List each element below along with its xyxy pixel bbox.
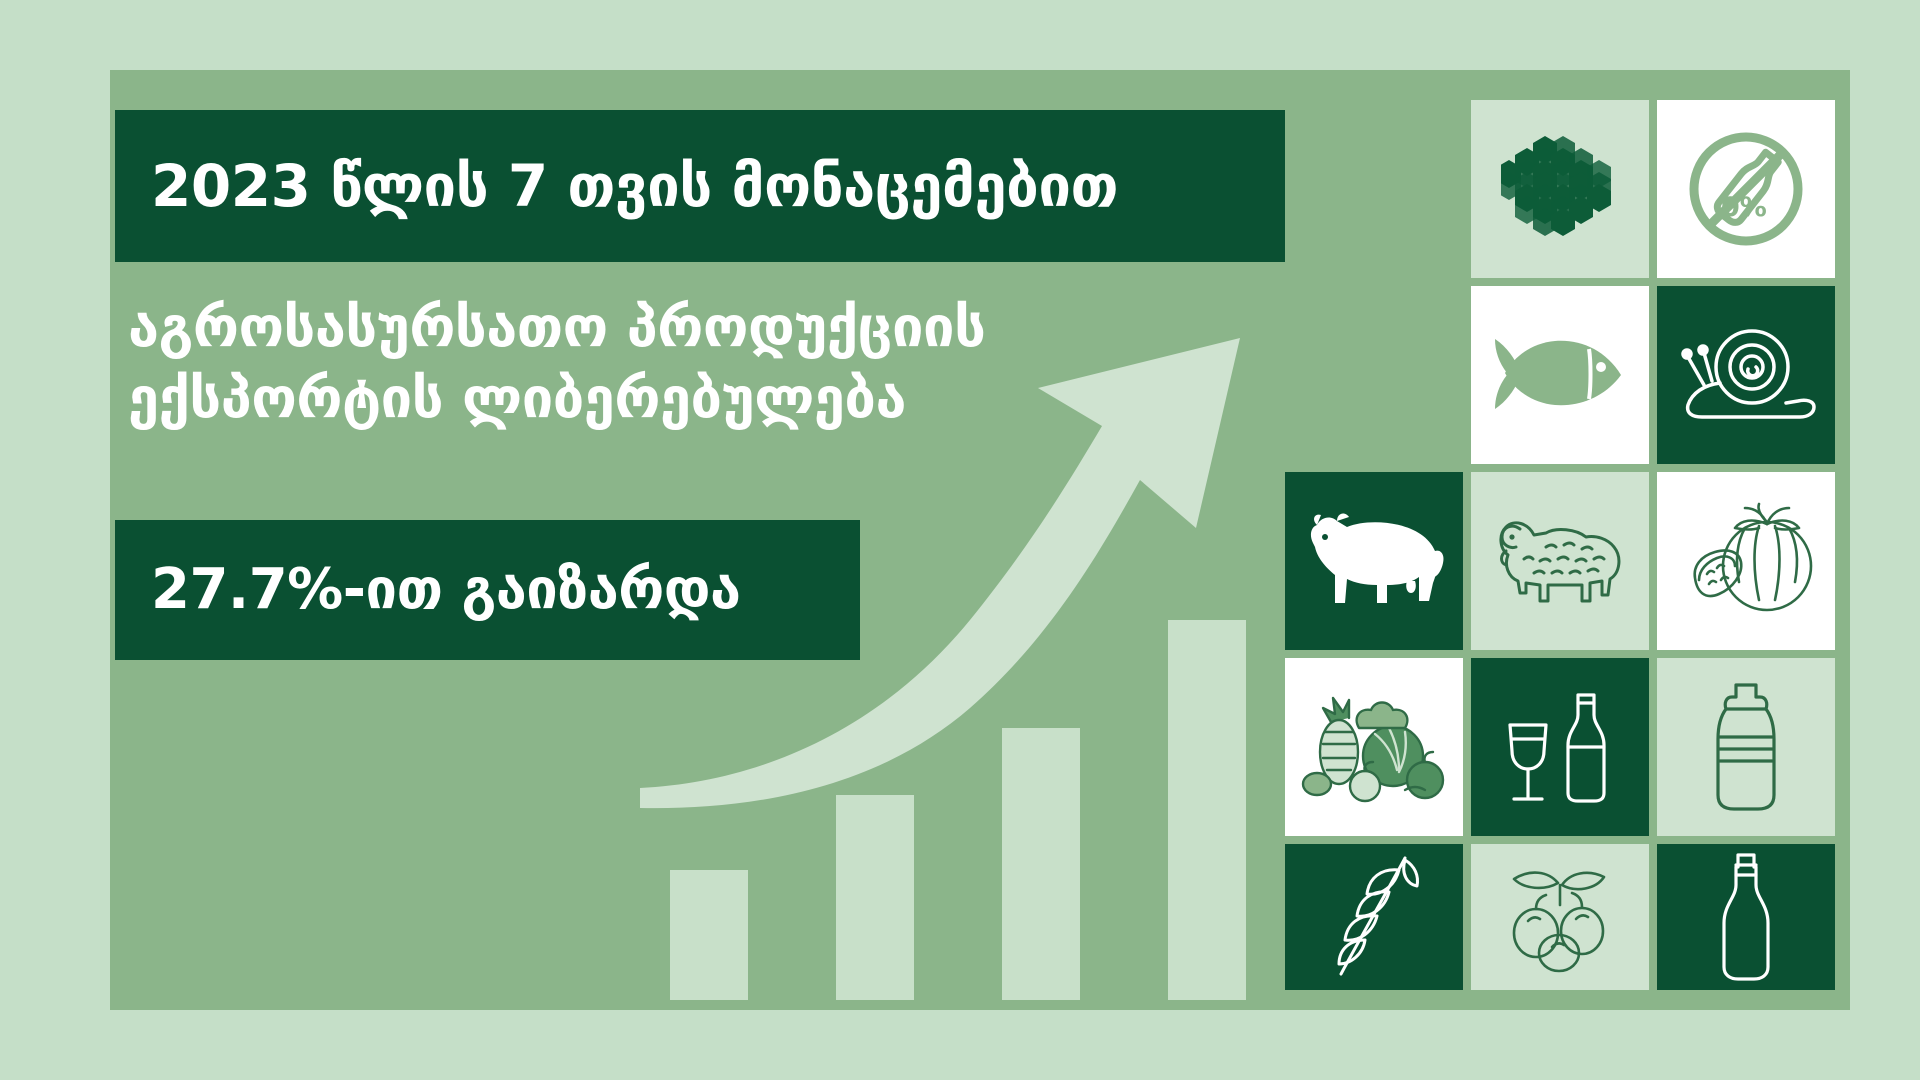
tile-water-bottle	[1657, 658, 1835, 836]
tile-olives	[1471, 844, 1649, 990]
highlight-banner: 27.7%-ით გაიზარდა	[115, 520, 860, 660]
fish-icon	[1493, 329, 1628, 421]
date-banner: 2023 წლის 7 თვის მონაცემებით	[115, 110, 1285, 262]
honeycomb-icon	[1501, 134, 1619, 244]
olives-icon	[1492, 861, 1628, 973]
no-alcohol-badge-label: 0%	[1721, 192, 1767, 223]
tile-sheep	[1471, 472, 1649, 650]
subtitle-block: აგროსასურსათო პროდუქციის ექსპორტის ლიბერ…	[128, 292, 1288, 434]
bar-2	[836, 795, 914, 1000]
tomato-melon-icon	[1675, 500, 1817, 622]
date-banner-text: 2023 წლის 7 თვის მონაცემებით	[115, 157, 1118, 215]
bar-1	[670, 870, 748, 1000]
subtitle-line-1: აგროსასურსათო პროდუქციის	[128, 292, 1288, 363]
tile-fruit-veg	[1285, 658, 1463, 836]
tile-fish	[1471, 286, 1649, 464]
sheep-icon	[1490, 501, 1630, 621]
tile-oil-bottle	[1657, 844, 1835, 990]
tile-cow	[1285, 472, 1463, 650]
infographic-canvas: 2023 წლის 7 თვის მონაცემებით აგროსასურსა…	[0, 0, 1920, 1080]
cow-icon	[1303, 505, 1445, 617]
subtitle-line-2: ექსპორტის ლიბერებულება	[128, 363, 1288, 434]
icon-grid: 0%	[1285, 100, 1845, 990]
no-alcohol-icon: 0%	[1681, 124, 1811, 254]
snail-icon	[1674, 323, 1819, 428]
tile-honeycomb	[1471, 100, 1649, 278]
tile-tomato-melon	[1657, 472, 1835, 650]
oil-bottle-icon	[1714, 851, 1778, 983]
water-bottle-icon	[1708, 679, 1784, 815]
tile-no-alcohol: 0%	[1657, 100, 1835, 278]
tile-snail	[1657, 286, 1835, 464]
tile-wine	[1471, 658, 1649, 836]
highlight-text: 27.7%-ით გაიზარდა	[115, 562, 741, 618]
herb-branch-icon	[1319, 852, 1429, 982]
tile-herb-branch	[1285, 844, 1463, 990]
wine-icon	[1500, 681, 1620, 813]
fruit-veg-icon	[1301, 688, 1447, 806]
